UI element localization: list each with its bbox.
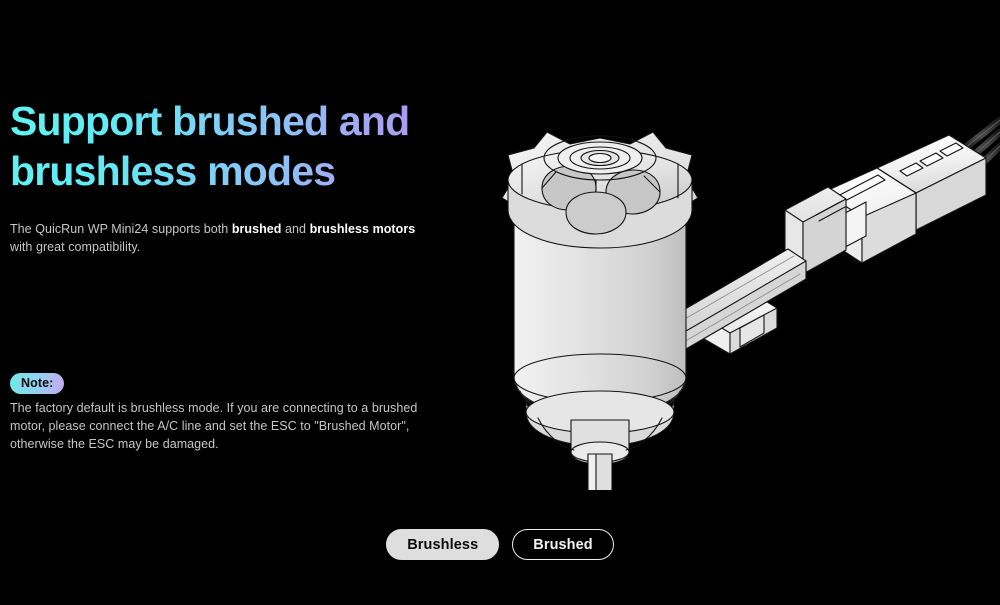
lede-emphasis-brushless: brushless motors [310, 222, 416, 236]
lede-middle: and [282, 222, 310, 236]
lede-suffix: with great compatibility. [10, 240, 140, 254]
star-end-bell [502, 132, 698, 248]
lede-prefix: The QuicRun WP Mini24 supports both [10, 222, 232, 236]
mode-toggle-brushed[interactable]: Brushed [512, 529, 614, 560]
output-shaft [588, 454, 612, 490]
motor-illustration [430, 60, 1000, 490]
mode-toggle-group: Brushless Brushed [0, 529, 1000, 560]
promo-page: Support brushed and brushless modes The … [0, 0, 1000, 605]
note-badge: Note: [10, 373, 64, 394]
note-body-text: The factory default is brushless mode. I… [10, 399, 422, 453]
lede-paragraph: The QuicRun WP Mini24 supports both brus… [10, 220, 430, 256]
mode-toggle-brushless[interactable]: Brushless [386, 529, 499, 560]
lede-emphasis-brushed: brushed [232, 222, 282, 236]
